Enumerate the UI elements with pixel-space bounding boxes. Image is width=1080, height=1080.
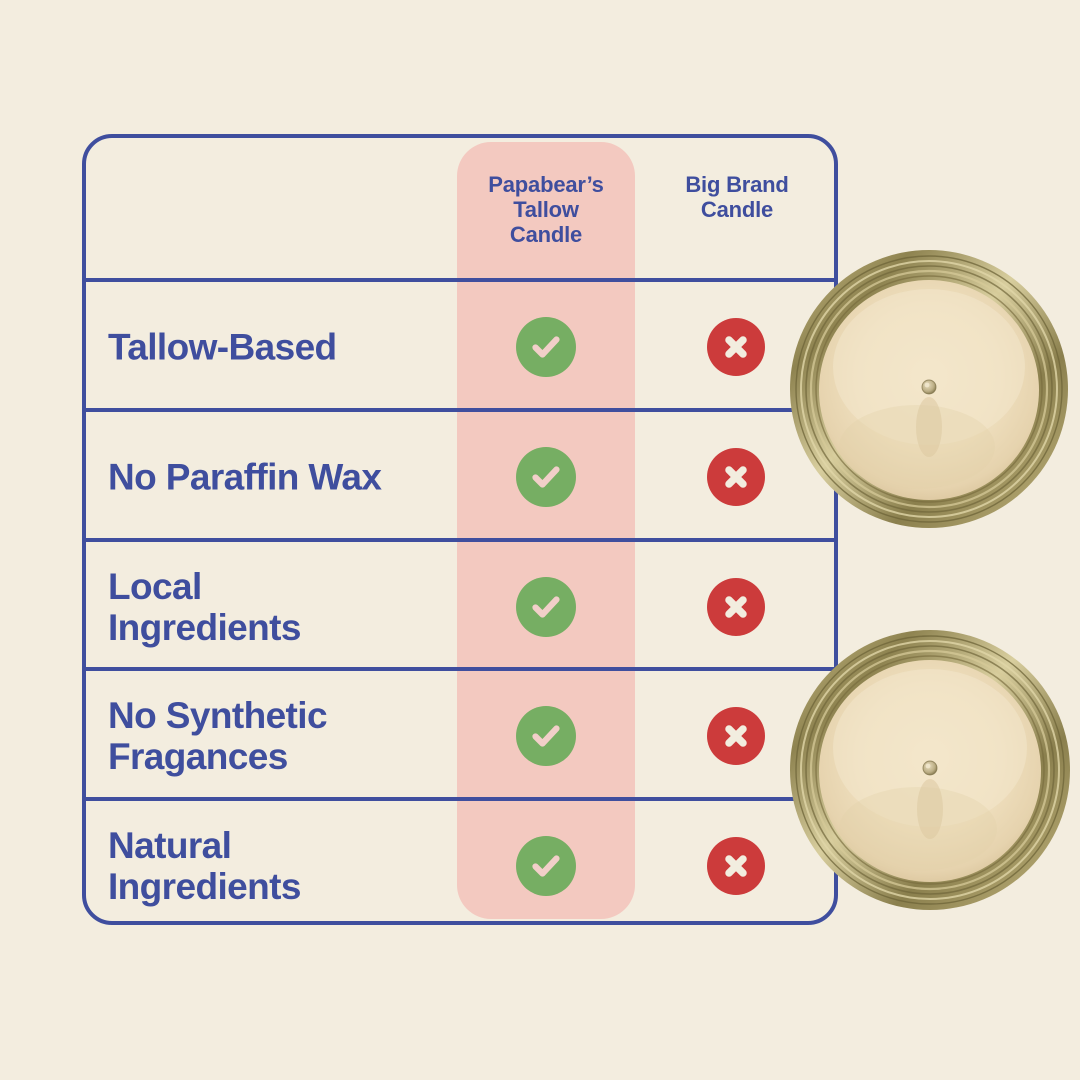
cross-circle-icon <box>707 578 765 636</box>
column-header-papabears: Papabear’s Tallow Candle <box>457 172 635 247</box>
feature-label-line: Fragances <box>108 736 448 777</box>
check-circle-icon <box>516 836 576 896</box>
comparison-chart-canvas: Papabear’s Tallow Candle Big Brand Candl… <box>0 0 1080 1080</box>
table-row: No Synthetic Fragances <box>82 671 838 801</box>
feature-label-line: Tallow-Based <box>108 327 448 368</box>
cross-circle-icon <box>707 318 765 376</box>
table-row: Local Ingredients <box>82 542 838 672</box>
check-circle-icon <box>516 317 576 377</box>
feature-label: No Paraffin Wax <box>108 457 448 498</box>
table-row: No Paraffin Wax <box>82 412 838 542</box>
cross-circle-icon <box>707 448 765 506</box>
column-header-line: Candle <box>648 197 826 222</box>
table-header-row: Papabear’s Tallow Candle Big Brand Candl… <box>82 134 838 278</box>
table-row: Tallow-Based <box>82 282 838 412</box>
candle-photo-top-view <box>789 249 1069 529</box>
column-header-line: Candle <box>457 222 635 247</box>
column-header-bigbrand: Big Brand Candle <box>648 172 826 222</box>
column-header-line: Tallow <box>457 197 635 222</box>
cross-circle-icon <box>707 707 765 765</box>
feature-label-line: Ingredients <box>108 607 448 648</box>
column-header-line: Big Brand <box>648 172 826 197</box>
table-row: Natural Ingredients <box>82 801 838 931</box>
feature-label-line: No Paraffin Wax <box>108 457 448 498</box>
feature-label: Local Ingredients <box>108 566 448 648</box>
feature-label-line: Ingredients <box>108 866 448 907</box>
feature-label: Tallow-Based <box>108 327 448 368</box>
candle-photo-top-view <box>789 629 1071 911</box>
feature-label: No Synthetic Fragances <box>108 695 448 777</box>
cross-circle-icon <box>707 837 765 895</box>
feature-label-line: Local <box>108 566 448 607</box>
check-circle-icon <box>516 447 576 507</box>
column-header-line: Papabear’s <box>457 172 635 197</box>
feature-label-line: No Synthetic <box>108 695 448 736</box>
check-circle-icon <box>516 706 576 766</box>
check-circle-icon <box>516 577 576 637</box>
feature-label: Natural Ingredients <box>108 825 448 907</box>
feature-label-line: Natural <box>108 825 448 866</box>
